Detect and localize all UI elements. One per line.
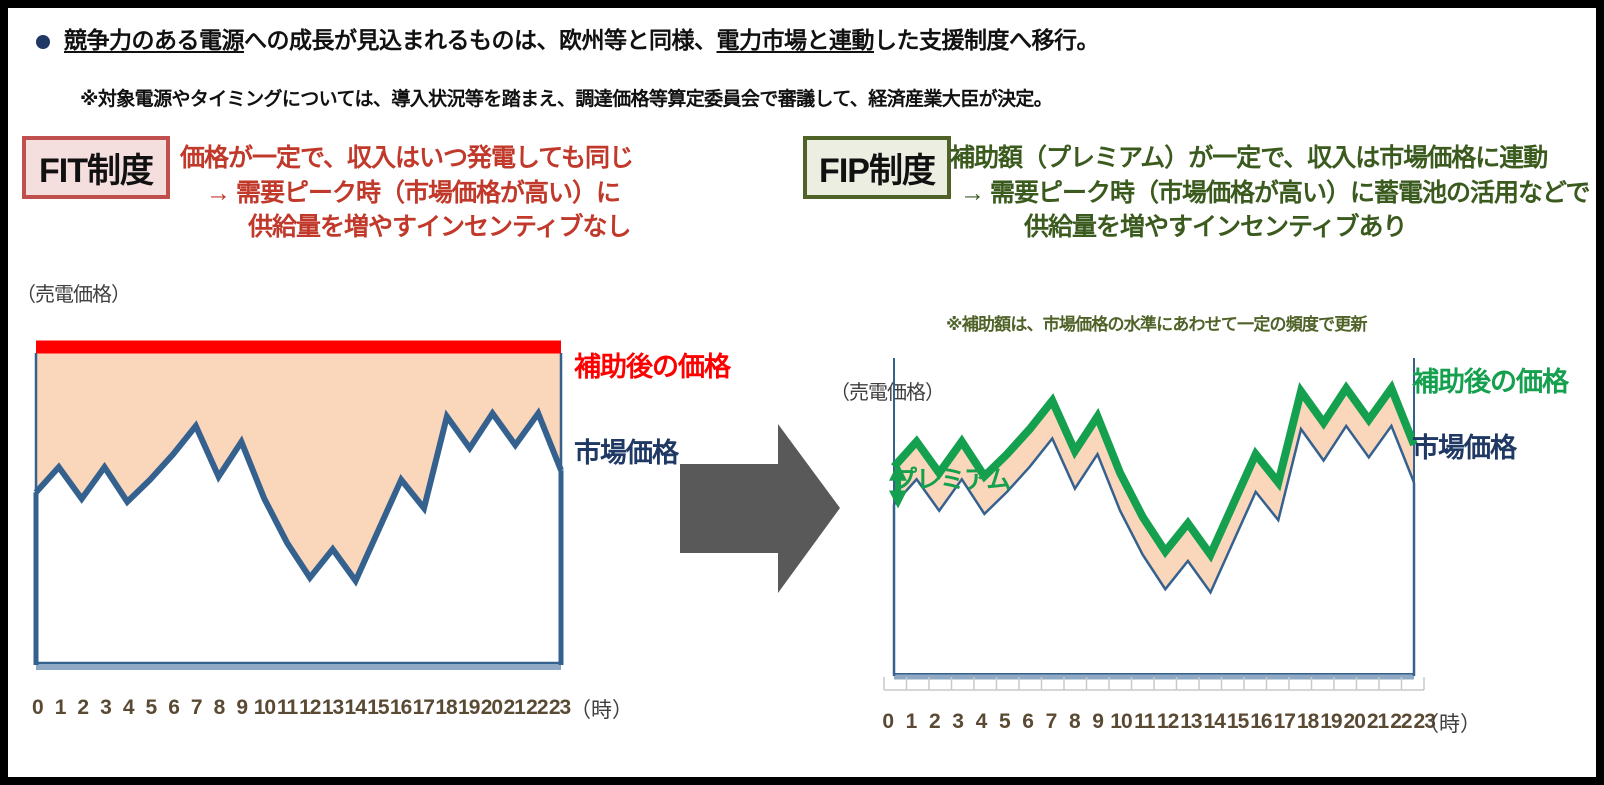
x-tick-label: 7 xyxy=(1039,710,1062,734)
x-tick-label: 15 xyxy=(367,696,390,720)
x-tick-label: 22 xyxy=(1389,710,1412,734)
x-tick-label: 10 xyxy=(1109,710,1132,734)
x-tick-label: 9 xyxy=(230,696,253,720)
x-tick-label: 17 xyxy=(1273,710,1296,734)
x-tick-label: 12 xyxy=(1156,710,1179,734)
fit-description: 価格が一定で、収入はいつ発電しても同じ → 需要ピーク時（市場価格が高い）に 供… xyxy=(180,141,633,245)
x-tick-label: 8 xyxy=(1063,710,1086,734)
premium-label: プレミアム xyxy=(892,460,1010,496)
bullet-segment-4: した支援制度へ移行。 xyxy=(874,27,1099,53)
x-tick-label: 16 xyxy=(1249,710,1272,734)
x-tick-label: 7 xyxy=(185,696,208,720)
x-tick-label: 19 xyxy=(1319,710,1342,734)
fip-description: 補助額（プレミアム）が一定で、収入は市場価格に連動 → 需要ピーク時（市場価格が… xyxy=(950,141,1589,245)
x-tick-label: 5 xyxy=(993,710,1016,734)
x-tick-label: 20 xyxy=(1343,710,1366,734)
x-tick-label: 9 xyxy=(1086,710,1109,734)
bullet-segment-1: 競争力のある電源 xyxy=(64,27,244,53)
x-tick-label: 8 xyxy=(208,696,231,720)
x-tick-label: 1 xyxy=(899,710,922,734)
x-tick-label: 6 xyxy=(162,696,185,720)
x-tick-label: 10 xyxy=(253,696,276,720)
x-tick-label: 4 xyxy=(969,710,992,734)
fip-legend-subsidized: 補助後の価格 xyxy=(1412,360,1568,399)
x-tick-label: 17 xyxy=(412,696,435,720)
x-tick-label: 13 xyxy=(321,696,344,720)
x-tick-label: 1 xyxy=(49,696,72,720)
fit-y-axis-caption: （売電価格） xyxy=(16,278,130,307)
fip-hour-caption: （時） xyxy=(1418,708,1481,738)
x-tick-label: 23 xyxy=(548,696,571,720)
x-tick-label: 22 xyxy=(525,696,548,720)
x-tick-label: 19 xyxy=(457,696,480,720)
x-tick-label: 18 xyxy=(435,696,458,720)
fip-badge: FIP制度 xyxy=(803,136,951,199)
bullet-dot-icon xyxy=(36,35,50,49)
x-tick-label: 16 xyxy=(389,696,412,720)
fit-chart xyxy=(26,333,571,688)
x-tick-label: 0 xyxy=(26,696,49,720)
fip-x-tick-labels: 01234567891011121314151617181920212223 xyxy=(876,710,1436,734)
fit-chart-svg xyxy=(26,333,571,688)
fit-badge: FIT制度 xyxy=(22,136,170,199)
fit-description-line-3: 供給量を増やすインセンティブなし xyxy=(180,210,633,245)
x-tick-label: 4 xyxy=(117,696,140,720)
x-tick-label: 3 xyxy=(94,696,117,720)
fit-description-line-2: → 需要ピーク時（市場価格が高い）に xyxy=(180,176,633,211)
bullet-row: 競争力のある電源への成長が見込まれるものは、欧州等と同様、電力市場と連動した支援… xyxy=(36,26,1516,55)
x-tick-label: 18 xyxy=(1296,710,1319,734)
fit-legend-subsidized: 補助後の価格 xyxy=(574,345,730,384)
x-tick-label: 12 xyxy=(298,696,321,720)
x-tick-label: 6 xyxy=(1016,710,1039,734)
x-tick-label: 21 xyxy=(1366,710,1389,734)
x-tick-label: 3 xyxy=(946,710,969,734)
fip-note: ※補助額は、市場価格の水準にあわせて一定の頻度で更新 xyxy=(946,310,1367,335)
x-tick-label: 14 xyxy=(344,696,367,720)
bullet-text: 競争力のある電源への成長が見込まれるものは、欧州等と同様、電力市場と連動した支援… xyxy=(64,26,1099,55)
x-tick-label: 15 xyxy=(1226,710,1249,734)
x-tick-label: 5 xyxy=(140,696,163,720)
fit-description-line-1: 価格が一定で、収入はいつ発電しても同じ xyxy=(180,141,633,176)
slide-note: ※対象電源やタイミングについては、導入状況等を踏まえ、調達価格等算定委員会で審議… xyxy=(80,84,1540,111)
x-tick-label: 2 xyxy=(923,710,946,734)
x-tick-label: 14 xyxy=(1203,710,1226,734)
slide-canvas: 競争力のある電源への成長が見込まれるものは、欧州等と同様、電力市場と連動した支援… xyxy=(8,8,1596,777)
x-tick-label: 13 xyxy=(1179,710,1202,734)
x-tick-label: 21 xyxy=(503,696,526,720)
x-tick-label: 0 xyxy=(876,710,899,734)
fip-chart-svg xyxy=(876,338,1436,708)
transition-arrow-icon xyxy=(680,416,840,601)
fit-shaded-area xyxy=(36,347,561,581)
bullet-segment-2: への成長が見込まれるものは、欧州等と同様、 xyxy=(244,27,717,53)
fip-description-line-3: 供給量を増やすインセンティブあり xyxy=(950,210,1589,245)
x-tick-label: 11 xyxy=(276,696,299,720)
x-tick-label: 2 xyxy=(71,696,94,720)
fit-legend-market: 市場価格 xyxy=(574,431,678,470)
bullet-segment-3: 電力市場と連動 xyxy=(717,27,875,53)
fip-legend-market: 市場価格 xyxy=(1412,426,1516,465)
fip-description-line-1: 補助額（プレミアム）が一定で、収入は市場価格に連動 xyxy=(950,141,1589,176)
fit-hour-caption: （時） xyxy=(570,694,633,724)
x-tick-label: 20 xyxy=(480,696,503,720)
x-tick-label: 11 xyxy=(1133,710,1156,734)
fit-x-tick-labels: 01234567891011121314151617181920212223 xyxy=(26,696,571,720)
fip-description-line-2: → 需要ピーク時（市場価格が高い）に蓄電池の活用などで xyxy=(950,176,1589,211)
fip-chart xyxy=(876,338,1436,708)
